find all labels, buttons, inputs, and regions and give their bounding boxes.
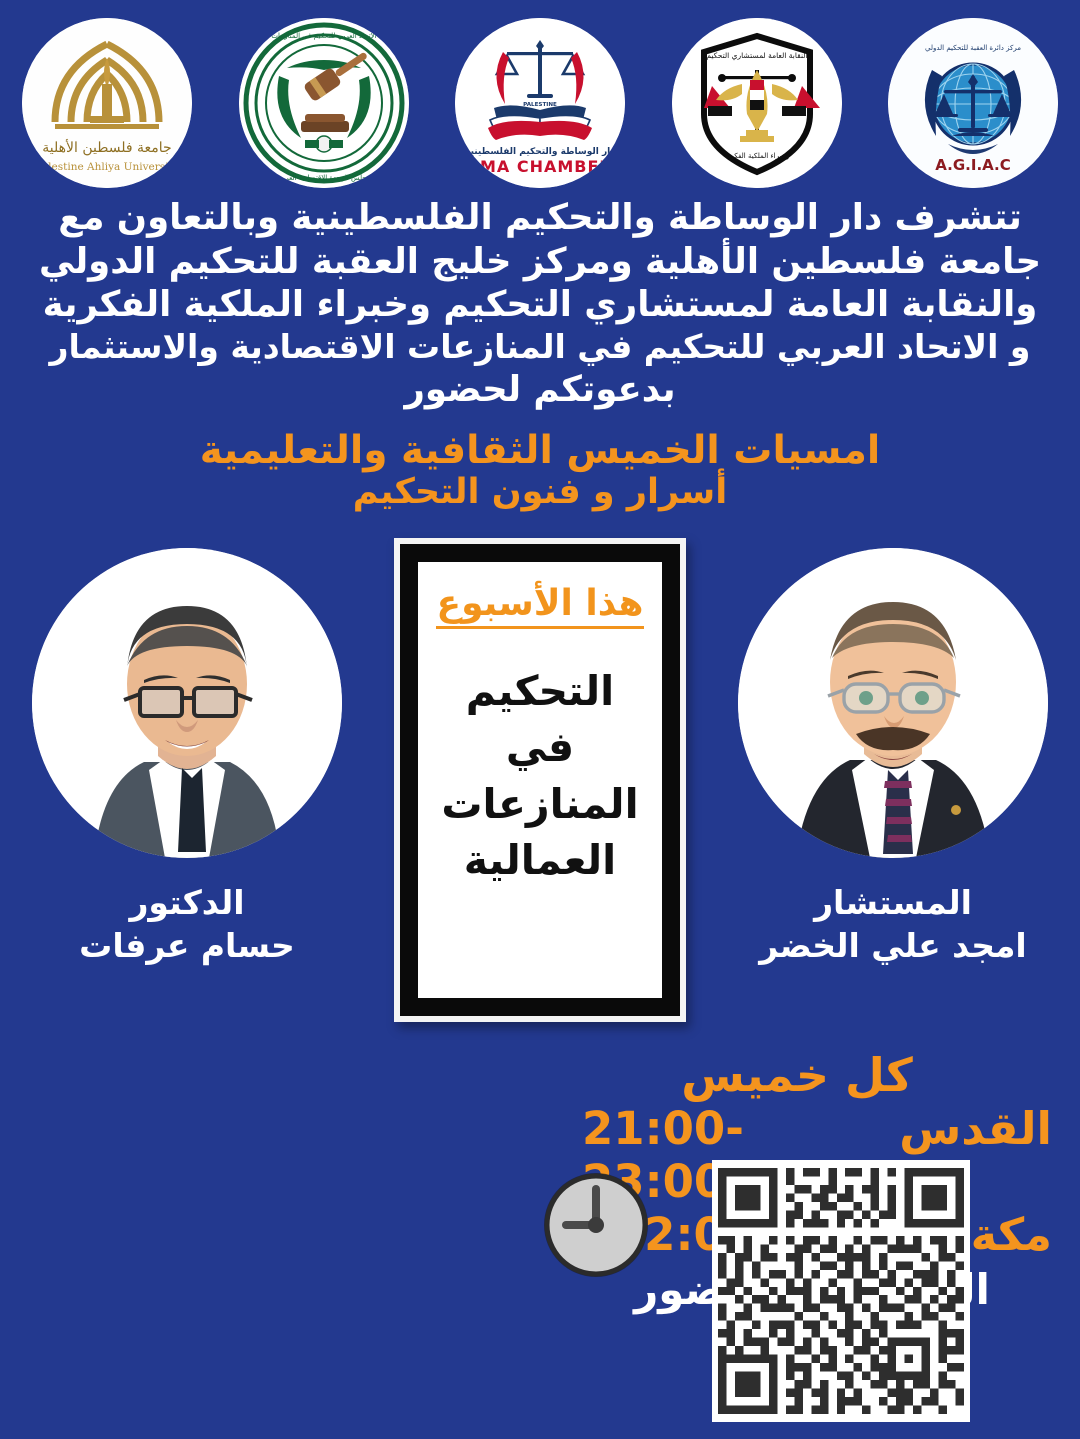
speaker-fullname: حسام عرفات [22,925,352,968]
topic-title: التحكيم في المنازعات العمالية [441,663,638,889]
invitation-paragraph: تتشرف دار الوساطة والتحكيم الفلسطينية وب… [22,196,1058,411]
svg-text:مجلس الوحدة الاقتصادية العربية: مجلس الوحدة الاقتصادية العربية [277,174,370,182]
syndicate-logo: النقابة العامة لمستشاري التحكيم وخبراء [672,18,842,188]
topic-line-2: في [441,719,638,776]
invitation-line-4: و الاتحاد العربي للتحكيم في المنازعات ال… [22,327,1058,368]
svg-text:Palestine Ahliya University: Palestine Ahliya University [35,161,178,173]
speaker-card-amjad-ali-alkhadir: المستشار امجد علي الخضر [728,548,1058,968]
svg-text:النقابة العامة لمستشاري التحكي: النقابة العامة لمستشاري التحكيم [706,51,807,60]
partner-logos-strip: مركز دائرة العقبة للتحكيم الدولي [0,0,1080,196]
topic-card-frame: هذا الأسبوع التحكيم في المنازعات العمالي… [400,544,680,1016]
svg-text:A.G.I.A.C: A.G.I.A.C [935,156,1010,174]
svg-text:PALESTINE: PALESTINE [523,102,557,108]
topic-card: هذا الأسبوع التحكيم في المنازعات العمالي… [394,538,686,1022]
clock-icon [540,1169,652,1281]
svg-text:دار الوساطة والتحكيم الفلسطيني: دار الوساطة والتحكيم الفلسطينية [465,147,615,157]
speakers-and-topic-row: الدكتور حسام عرفات هذا الأسبوع التحكيم ف… [0,530,1080,1030]
topic-line-1: التحكيم [441,663,638,720]
avatar-hussam-arafat [32,548,342,858]
series-title: امسيات الخميس الثقافية والتعليمية أسرار … [22,429,1058,512]
invitation-line-1: تتشرف دار الوساطة والتحكيم الفلسطينية وب… [22,196,1058,240]
speaker-fullname: امجد علي الخضر [728,925,1058,968]
svg-text:جامعة فلسطين الأهلية: جامعة فلسطين الأهلية [42,138,171,156]
invitation-line-2: جامعة فلسطين الأهلية ومركز خليج العقبة ل… [22,240,1058,284]
invitation-line-3: والنقابة العامة لمستشاري التحكيم وخبراء … [22,283,1058,327]
speaker-name-amjad-ali-alkhadir: المستشار امجد علي الخضر [728,882,1058,968]
agiac-logo: مركز دائرة العقبة للتحكيم الدولي [888,18,1058,188]
series-title-line-2: أسرار و فنون التحكيم [22,473,1058,512]
topic-line-4: العمالية [441,832,638,889]
svg-text:مركز دائرة العقبة للتحكيم الدو: مركز دائرة العقبة للتحكيم الدولي [925,44,1021,52]
svg-text:PMA CHAMBER: PMA CHAMBER [467,157,612,176]
qr-code-icon[interactable] [712,1160,970,1422]
speaker-role: الدكتور [22,882,352,925]
svg-text:الاتحاد العربي للتحكيم في المن: الاتحاد العربي للتحكيم في المنازعات [271,32,376,40]
invitation-line-5: بدعوتكم لحضور [22,368,1058,412]
arab-union-arbitration-logo: الاتحاد العربي للتحكيم في المنازعات مجلس… [239,18,409,188]
topic-badge-this-week: هذا الأسبوع [436,584,643,629]
schedule-timezone: القدس [901,1102,1052,1155]
schedule-day: كل خميس [582,1050,1052,1102]
series-title-line-1: امسيات الخميس الثقافية والتعليمية [22,429,1058,473]
pma-chamber-logo: PALESTINE دار الوساطة والتحكيم الفلسطيني… [455,18,625,188]
speaker-role: المستشار [728,882,1058,925]
speaker-name-hussam-arafat: الدكتور حسام عرفات [22,882,352,968]
topic-line-3: المنازعات [441,776,638,833]
palestine-ahliya-university-logo: جامعة فلسطين الأهلية Palestine Ahliya Un… [22,18,192,188]
speaker-card-hussam-arafat: الدكتور حسام عرفات [22,548,352,968]
avatar-amjad-ali-alkhadir [738,548,1048,858]
svg-text:وخبراء الملكية الفكرية: وخبراء الملكية الفكرية [724,152,789,160]
